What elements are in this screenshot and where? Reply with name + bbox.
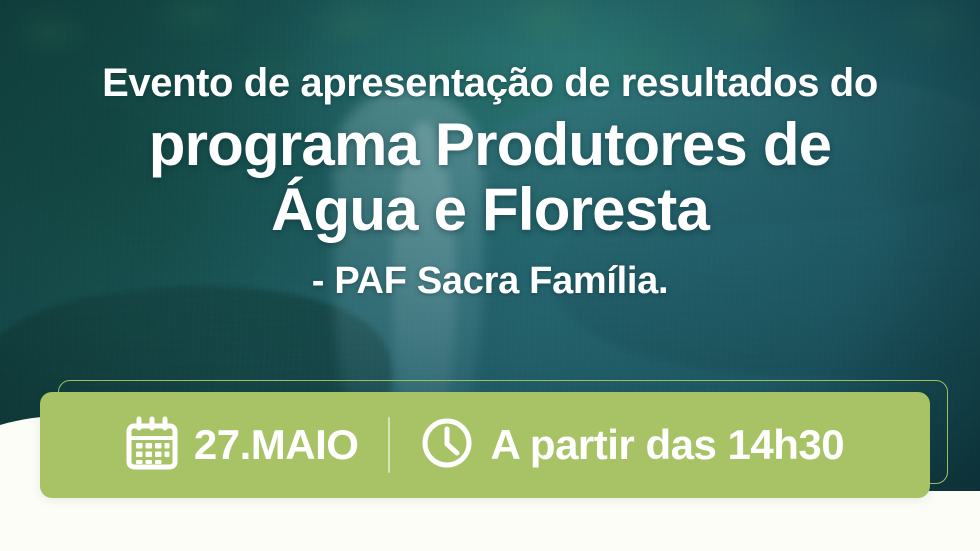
headline-block: Evento de apresentação de resultados do … (0, 62, 980, 303)
headline-line-2: programa Produtores de (24, 111, 956, 178)
bottom-plate (0, 491, 980, 551)
info-bar: 27.MAIO A partir das 14h30 (40, 392, 930, 498)
event-banner: Evento de apresentação de resultados do … (0, 0, 980, 551)
calendar-icon (126, 416, 178, 475)
event-time-text: A partir das 14h30 (490, 424, 844, 466)
info-bar-divider (388, 417, 390, 473)
headline-line-4: - PAF Sacra Família. (24, 260, 956, 303)
date-group: 27.MAIO (126, 416, 359, 475)
clock-icon (420, 416, 474, 475)
time-group: A partir das 14h30 (420, 416, 844, 475)
headline-line-1: Evento de apresentação de resultados do (24, 62, 956, 105)
headline-line-3: Água e Floresta (24, 176, 956, 243)
event-date-text: 27.MAIO (194, 424, 359, 466)
